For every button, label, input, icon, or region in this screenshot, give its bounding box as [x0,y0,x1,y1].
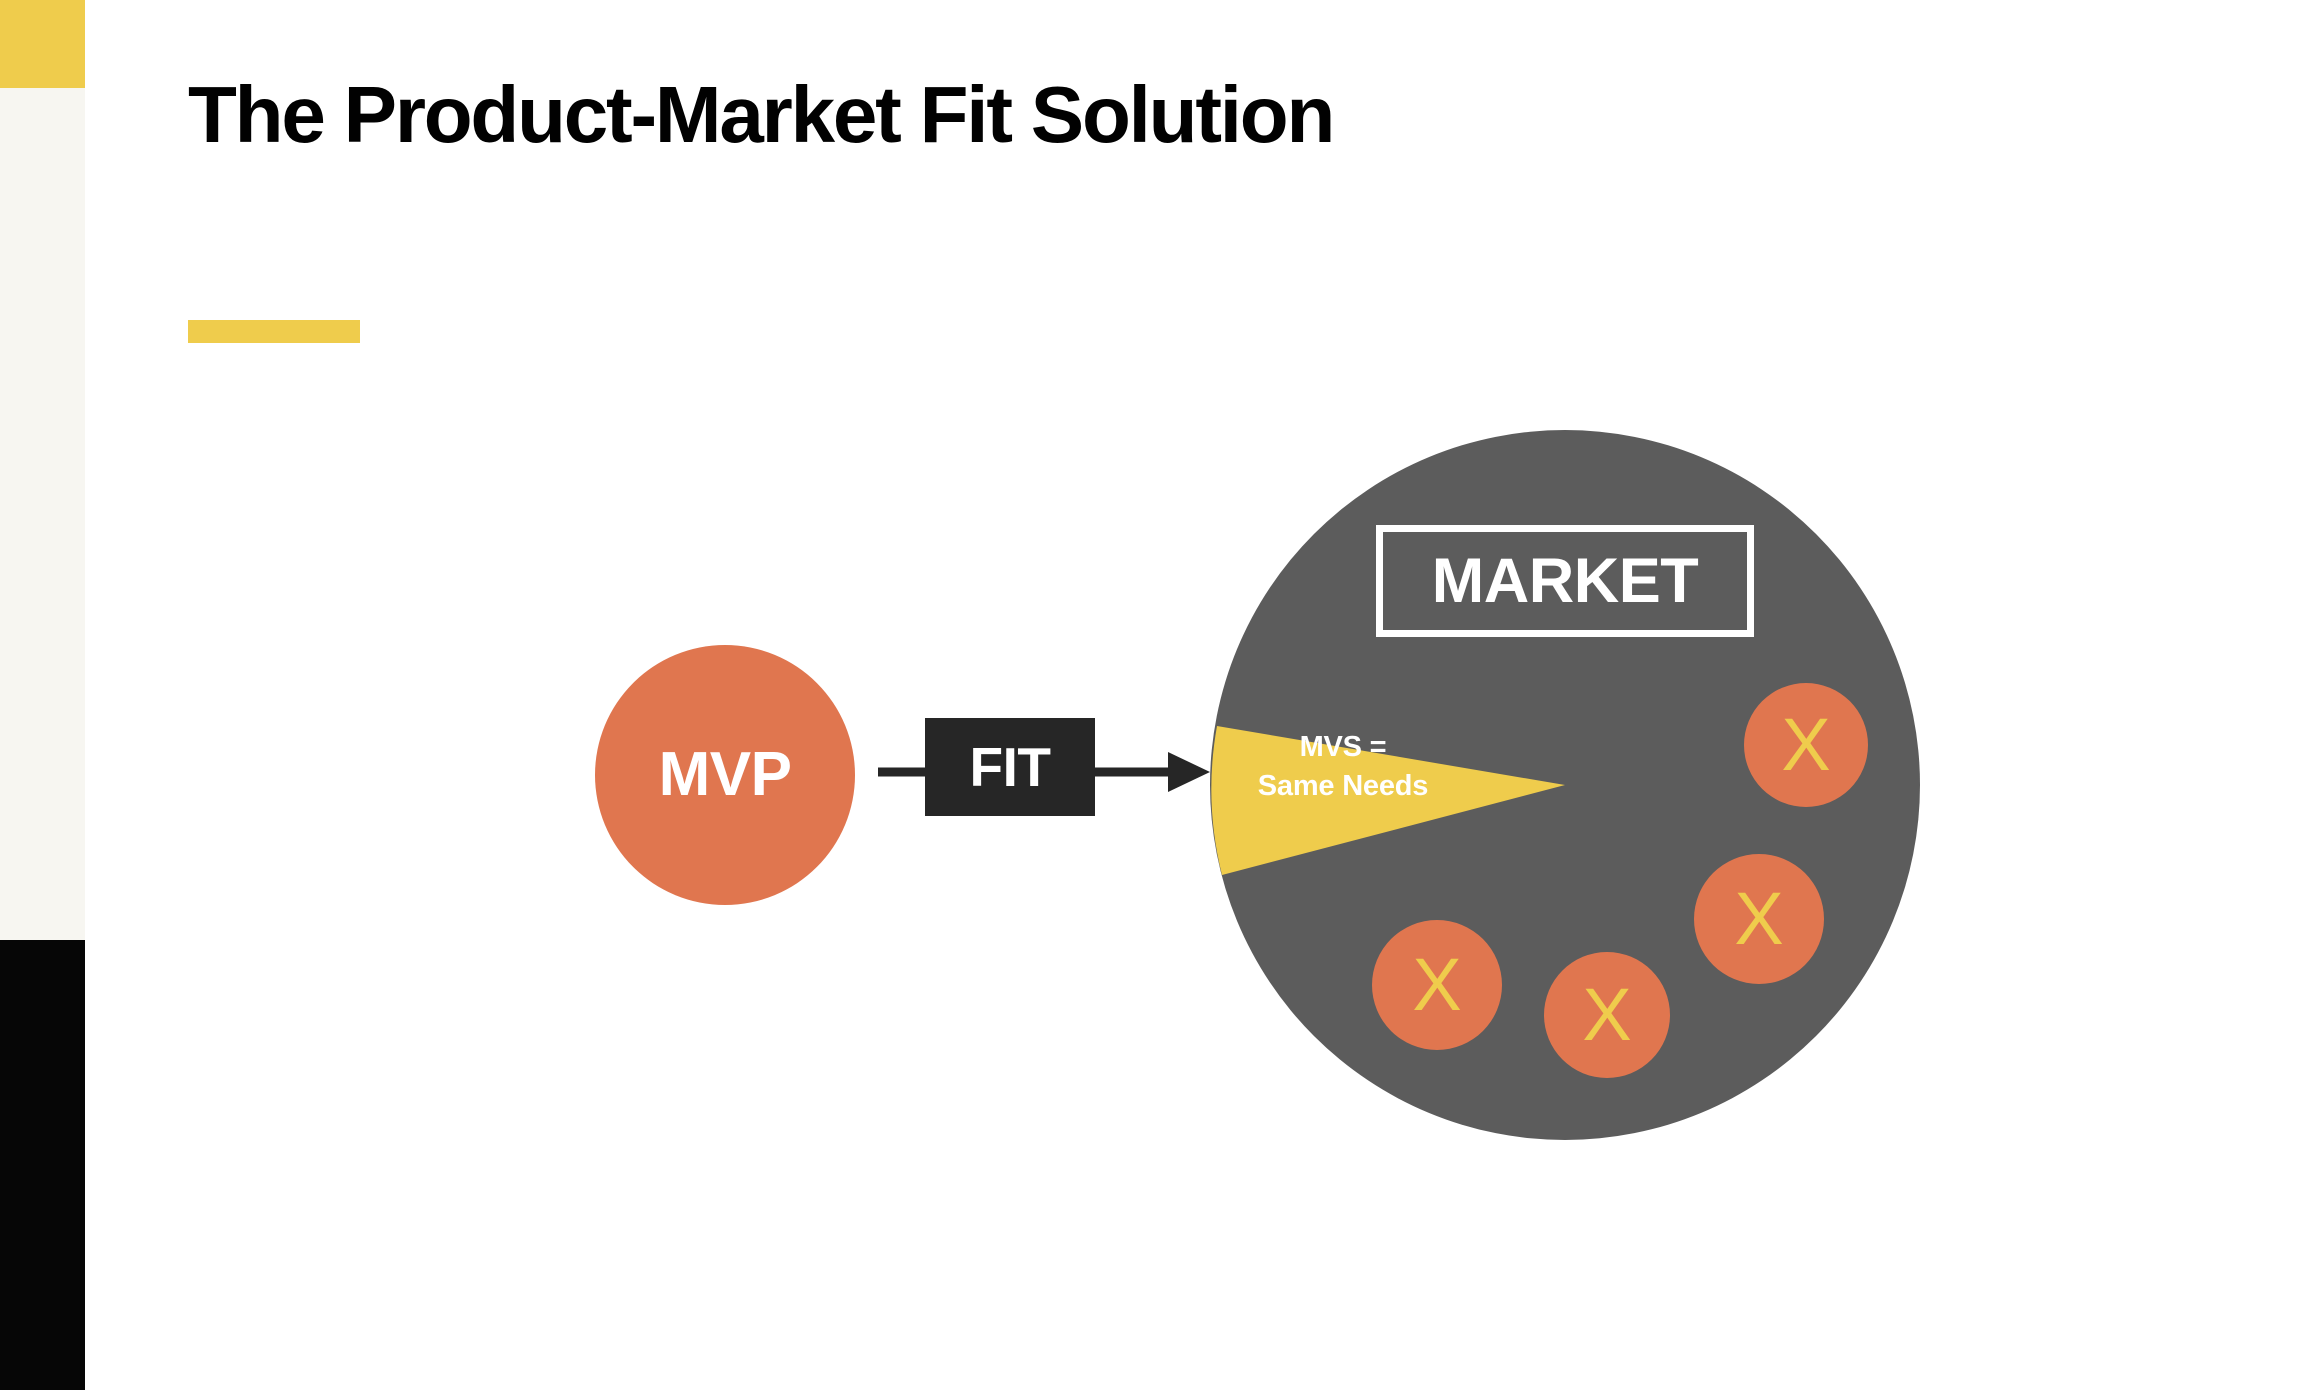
pmf-diagram [0,0,2310,1390]
segment-circle-3 [1372,920,1502,1050]
slide-canvas: underscore.vc The Product-Market Fit Sol… [0,0,2310,1390]
market-label: MARKET [1432,550,1698,613]
segment-circle-2 [1694,854,1824,984]
segment-circle-4 [1544,952,1670,1078]
segment-circle-1 [1744,683,1868,807]
arrow-head-icon [1168,752,1210,792]
mvp-circle [595,645,855,905]
market-label-box: MARKET [1376,525,1754,637]
fit-box [925,718,1095,816]
